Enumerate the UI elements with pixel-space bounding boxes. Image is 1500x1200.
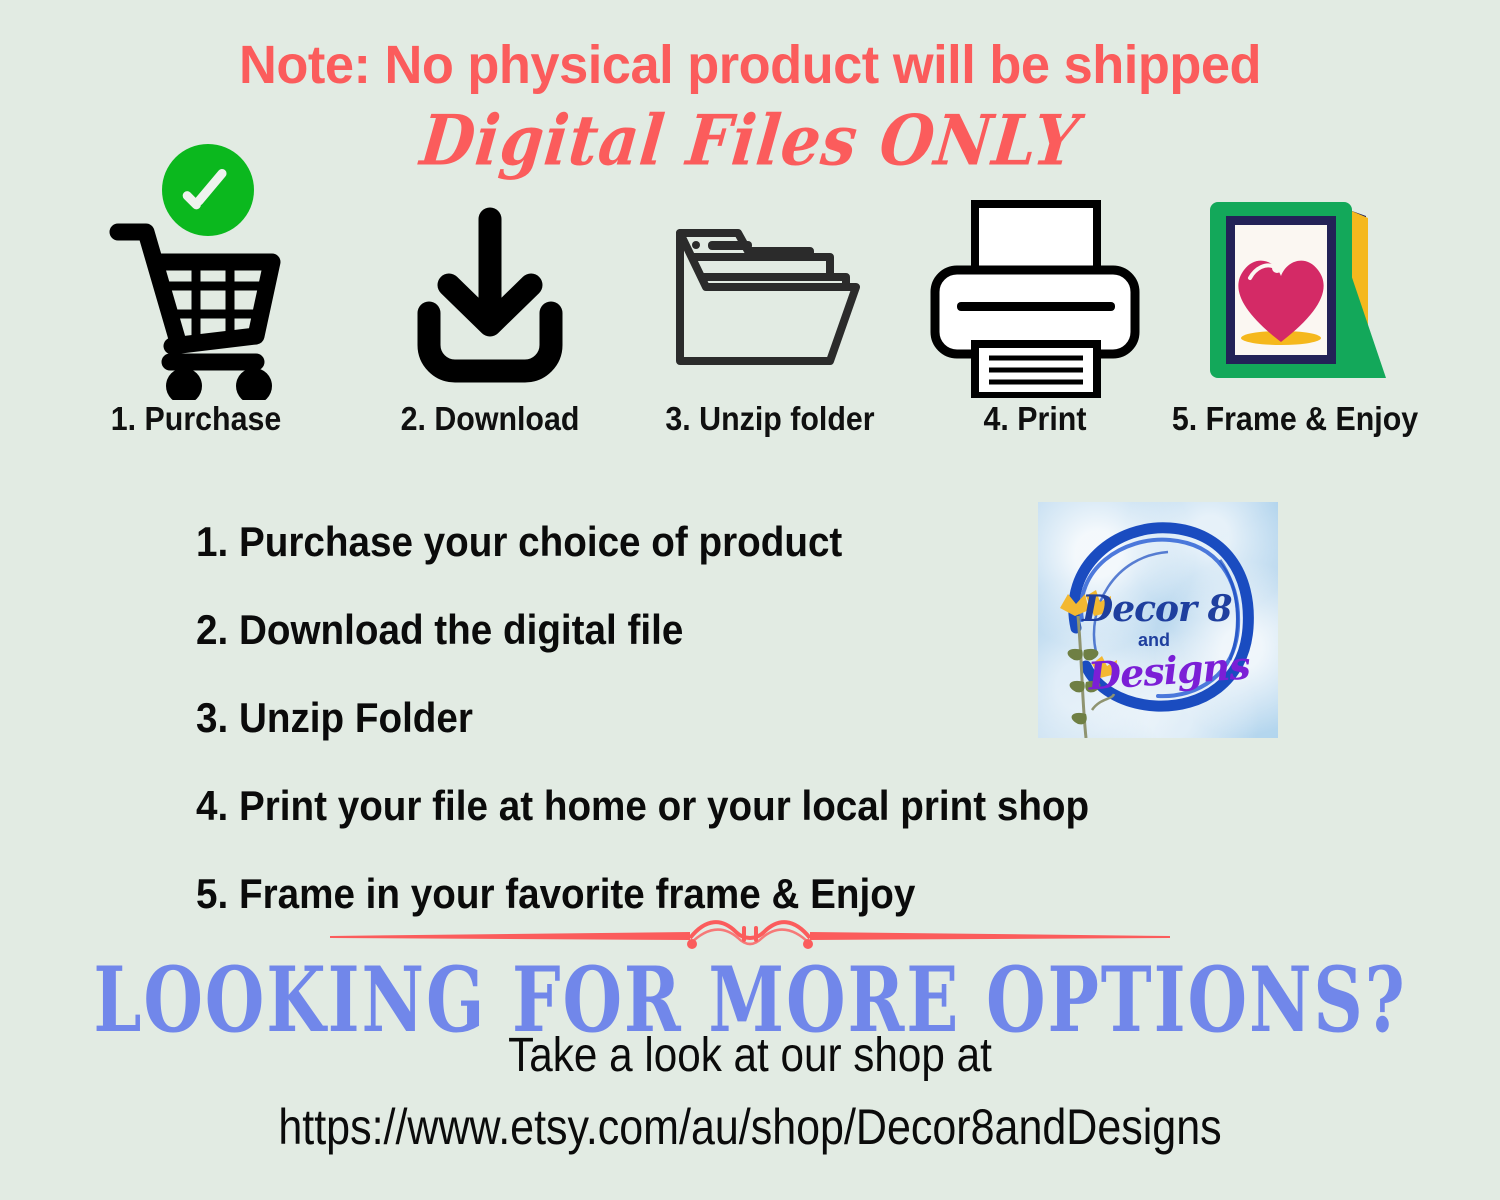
logo-name: Decor 8	[1082, 588, 1232, 630]
green-check-icon	[162, 144, 254, 236]
step-purchase-label: 1. Purchase	[49, 400, 343, 438]
step-frame: 5. Frame & Enjoy	[1125, 150, 1465, 438]
shop-url[interactable]: https://www.etsy.com/au/shop/Decor8andDe…	[105, 1098, 1395, 1156]
list-item: 5. Frame in your favorite frame & Enjoy	[196, 872, 1226, 916]
step-download-label: 2. Download	[343, 400, 637, 438]
step-frame-art	[1125, 150, 1465, 400]
poster-canvas: Note: No physical product will be shippe…	[0, 0, 1500, 1200]
steps-icon-row: 1. Purchase 2. Download	[0, 150, 1500, 470]
step-purchase-art	[36, 150, 356, 400]
step-unzip: 3. Unzip folder	[600, 150, 940, 438]
step-purchase: 1. Purchase	[36, 150, 356, 438]
download-arrow-icon	[405, 205, 575, 400]
step-print-label: 4. Print	[915, 400, 1154, 438]
open-folder-icon	[670, 215, 870, 390]
list-item: 4. Print your file at home or your local…	[196, 784, 1226, 828]
brand-logo: Decor 8 and Designs	[1038, 502, 1278, 738]
step-frame-label: 5. Frame & Enjoy	[1139, 400, 1452, 438]
shop-intro-text: Take a look at our shop at	[90, 1028, 1410, 1083]
page-title: Note: No physical product will be shippe…	[23, 34, 1478, 96]
step-unzip-label: 3. Unzip folder	[614, 400, 927, 438]
shopping-cart-icon	[106, 210, 286, 405]
printer-icon	[927, 198, 1143, 403]
step-unzip-art	[600, 150, 940, 400]
picture-frame-heart-icon	[1190, 182, 1400, 417]
